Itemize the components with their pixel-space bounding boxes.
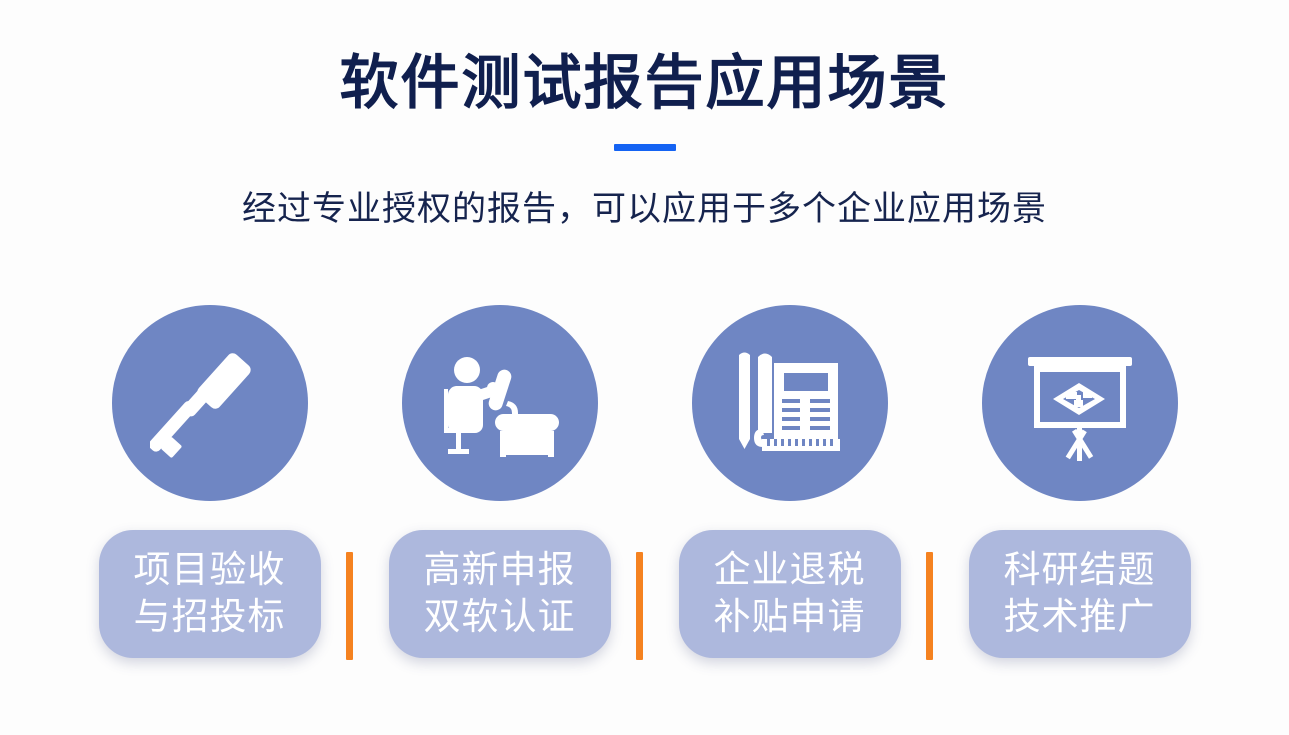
pill-line-2: 补贴申请 [714, 594, 866, 641]
pill-line-2: 双软认证 [424, 594, 576, 641]
icon-circle [982, 305, 1178, 501]
scene-card-research-promotion[interactable]: 科研结题 技术推广 [935, 305, 1225, 658]
scene-pill[interactable]: 高新申报 双软认证 [389, 530, 611, 658]
pill-line-1: 项目验收 [134, 547, 286, 594]
icon-circle [112, 305, 308, 501]
pill-line-2: 技术推广 [1004, 594, 1156, 641]
scene-card-list: 项目验收 与招投标 [0, 305, 1289, 685]
presentation-board-icon [1020, 343, 1140, 463]
pill-line-1: 高新申报 [424, 547, 576, 594]
gavel-icon [150, 343, 270, 463]
blueprint-document-icon [730, 343, 850, 463]
scene-card-tax-refund[interactable]: 企业退税 补贴申请 [645, 305, 935, 658]
icon-circle [402, 305, 598, 501]
pill-line-1: 科研结题 [1004, 547, 1156, 594]
page-subtitle: 经过专业授权的报告，可以应用于多个企业应用场景 [0, 181, 1289, 230]
separator-3 [926, 552, 933, 660]
separator-2 [636, 552, 643, 660]
pill-line-2: 与招投标 [134, 594, 286, 641]
pill-line-1: 企业退税 [714, 547, 866, 594]
header: 软件测试报告应用场景 经过专业授权的报告，可以应用于多个企业应用场景 [0, 52, 1289, 230]
title-divider [614, 144, 676, 151]
scene-pill[interactable]: 企业退税 补贴申请 [679, 530, 901, 658]
icon-circle [692, 305, 888, 501]
scene-card-project-acceptance[interactable]: 项目验收 与招投标 [65, 305, 355, 658]
scene-pill[interactable]: 项目验收 与招投标 [99, 530, 321, 658]
page-title: 软件测试报告应用场景 [0, 52, 1289, 116]
scene-card-high-tech-declaration[interactable]: 高新申报 双软认证 [355, 305, 645, 658]
slide-root: 软件测试报告应用场景 经过专业授权的报告，可以应用于多个企业应用场景 项目验收 … [0, 0, 1289, 735]
person-at-desk-icon [440, 343, 560, 463]
separator-1 [346, 552, 353, 660]
scene-pill[interactable]: 科研结题 技术推广 [969, 530, 1191, 658]
